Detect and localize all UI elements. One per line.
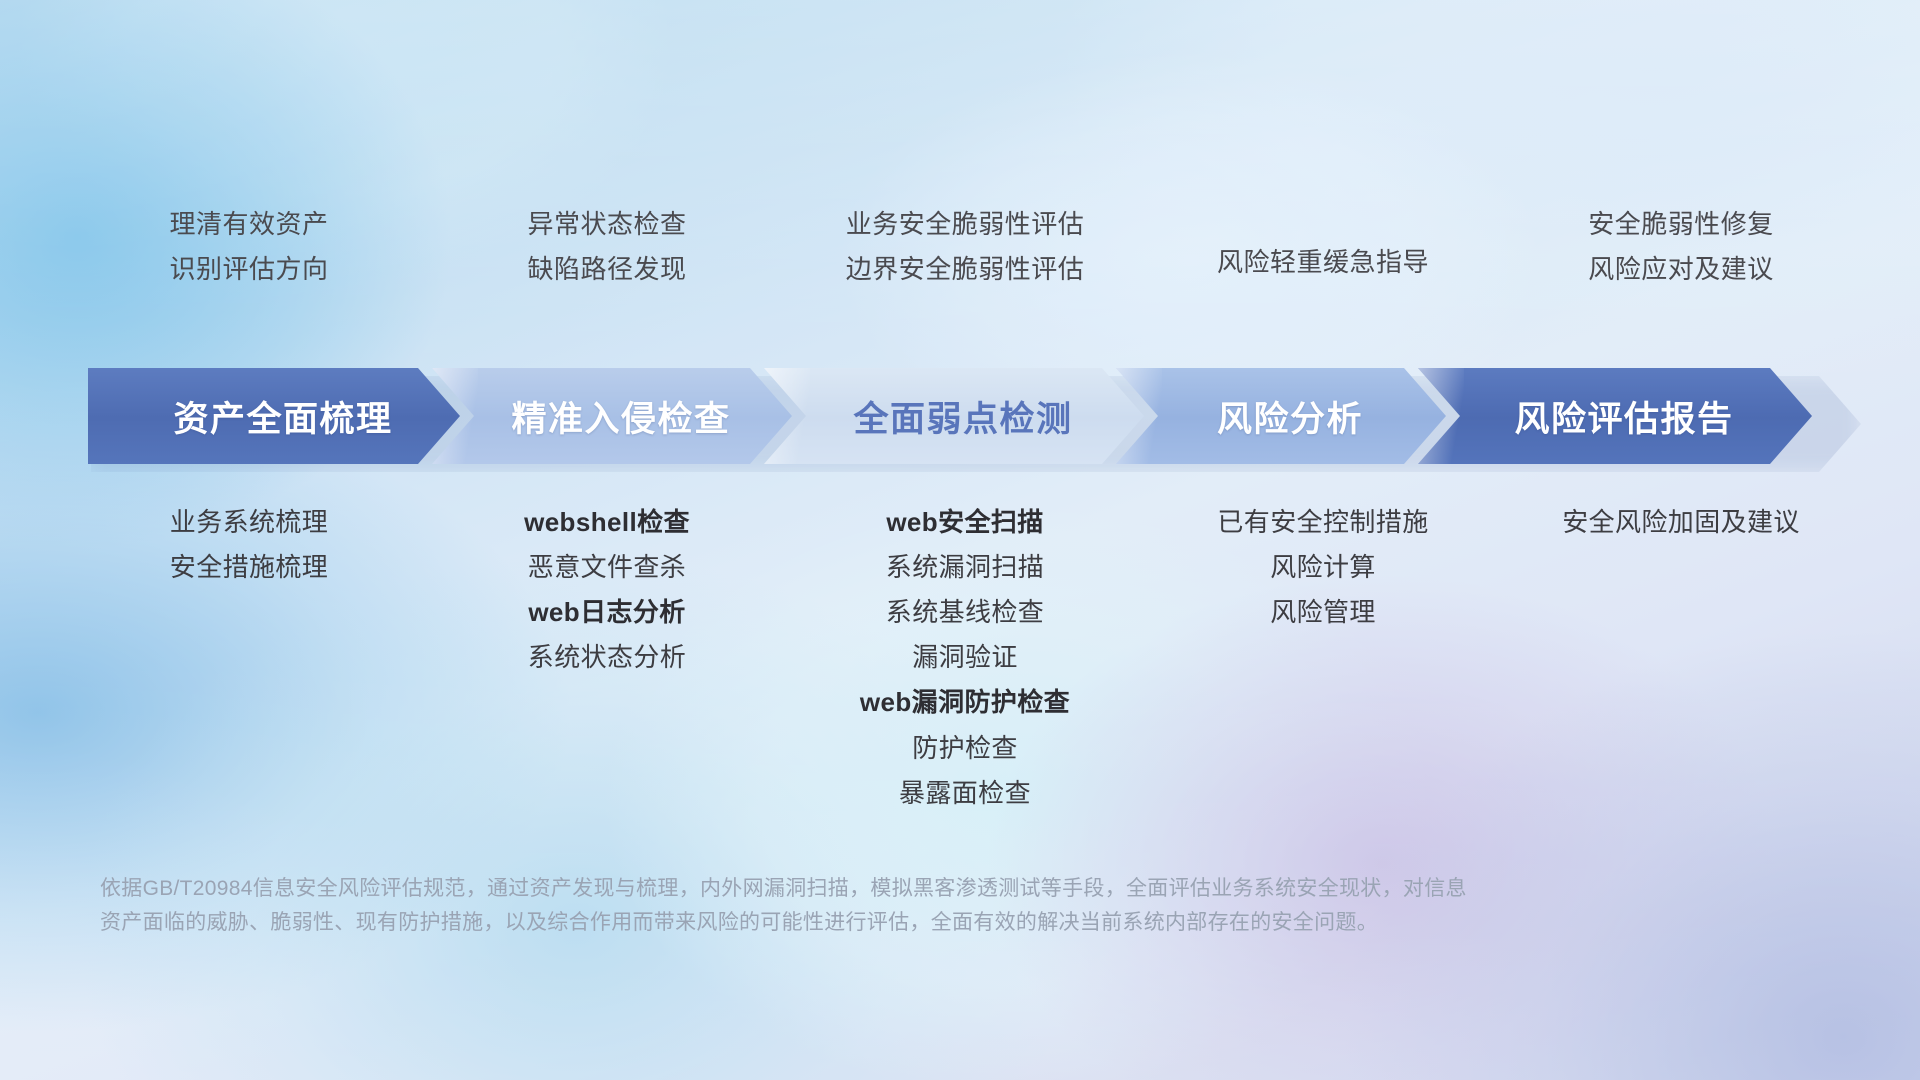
outcome-text: 理清有效资产	[169, 210, 328, 239]
process-chevron-band: 资产全面梳理 精准入侵检查 全面弱点检测 风险分析 风险评估报告	[88, 368, 1858, 464]
stage-activities-weakness-detection: web安全扫描 系统漏洞扫描 系统基线检查 漏洞验证 web漏洞防护检查 防护检…	[786, 508, 1144, 808]
activity-item: 风险计算	[1270, 553, 1376, 582]
outcome-text: 边界安全脆弱性评估	[846, 255, 1085, 284]
activity-item: 安全风险加固及建议	[1562, 508, 1800, 537]
stage-activities-intrusion-check: webshell检查 恶意文件查杀 web日志分析 系统状态分析	[428, 508, 786, 672]
chevron-stage-risk-report[interactable]: 风险评估报告	[1418, 368, 1812, 464]
footer-line-1: 依据GB/T20984信息安全风险评估规范，通过资产发现与梳理，内外网漏洞扫描，…	[100, 872, 1730, 906]
activity-item: 漏洞验证	[912, 643, 1018, 672]
stage-activities-risk-report: 安全风险加固及建议	[1502, 508, 1860, 537]
stage-activities-asset-inventory: 业务系统梳理 安全措施梳理	[70, 508, 428, 582]
chevron-stage-weakness-detection[interactable]: 全面弱点检测	[764, 368, 1144, 464]
activity-item: web日志分析	[528, 598, 685, 627]
activity-item: 防护检查	[912, 734, 1018, 763]
activity-item: 系统基线检查	[886, 598, 1044, 627]
stage-outcomes-row: 理清有效资产 识别评估方向 异常状态检查 缺陷路径发现 业务安全脆弱性评估 边界…	[70, 210, 1860, 283]
chevron-label: 资产全面梳理	[155, 391, 392, 442]
stage-outcomes-weakness-detection: 业务安全脆弱性评估 边界安全脆弱性评估	[786, 210, 1144, 283]
activity-item: 恶意文件查杀	[528, 553, 686, 582]
stage-activities-risk-analysis: 已有安全控制措施 风险计算 风险管理	[1144, 508, 1502, 627]
outcome-text: 异常状态检查	[527, 210, 686, 239]
outcome-text: 风险应对及建议	[1588, 255, 1774, 284]
footer-line-2: 资产面临的威胁、脆弱性、现有防护措施，以及综合作用而带来风险的可能性进行评估，全…	[100, 906, 1730, 940]
outcome-text: 安全脆弱性修复	[1588, 210, 1774, 239]
activity-item: 安全措施梳理	[170, 553, 328, 582]
chevron-label: 风险评估报告	[1496, 391, 1733, 442]
slide-canvas: 理清有效资产 识别评估方向 异常状态检查 缺陷路径发现 业务安全脆弱性评估 边界…	[0, 0, 1920, 1080]
activity-item: 暴露面检查	[899, 779, 1031, 808]
activity-item: web漏洞防护检查	[860, 688, 1070, 717]
activity-item: webshell检查	[524, 508, 690, 537]
chevron-label: 风险分析	[1199, 391, 1363, 442]
stage-outcomes-asset-inventory: 理清有效资产 识别评估方向	[70, 210, 428, 283]
outcome-text: 业务安全脆弱性评估	[846, 210, 1085, 239]
activity-item: 已有安全控制措施	[1217, 508, 1428, 537]
activity-item: 业务系统梳理	[170, 508, 328, 537]
footer-description: 依据GB/T20984信息安全风险评估规范，通过资产发现与梳理，内外网漏洞扫描，…	[100, 872, 1730, 940]
activity-item: 风险管理	[1270, 598, 1376, 627]
chevron-label: 全面弱点检测	[835, 391, 1072, 442]
stage-outcomes-risk-report: 安全脆弱性修复 风险应对及建议	[1502, 210, 1860, 283]
stage-outcomes-risk-analysis: 风险轻重缓急指导	[1144, 210, 1502, 283]
stage-activities-row: 业务系统梳理 安全措施梳理 webshell检查 恶意文件查杀 web日志分析 …	[70, 508, 1860, 808]
chevron-stage-risk-analysis[interactable]: 风险分析	[1116, 368, 1446, 464]
diagram-content: 理清有效资产 识别评估方向 异常状态检查 缺陷路径发现 业务安全脆弱性评估 边界…	[0, 0, 1920, 1080]
chevron-stage-asset-inventory[interactable]: 资产全面梳理	[88, 368, 460, 464]
stage-outcomes-intrusion-check: 异常状态检查 缺陷路径发现	[428, 210, 786, 283]
activity-item: web安全扫描	[886, 508, 1043, 537]
outcome-text: 风险轻重缓急指导	[1217, 248, 1429, 277]
activity-item: 系统状态分析	[528, 643, 686, 672]
chevron-label: 精准入侵检查	[493, 391, 730, 442]
activity-item: 系统漏洞扫描	[886, 553, 1044, 582]
outcome-text: 缺陷路径发现	[527, 255, 686, 284]
chevron-stage-intrusion-check[interactable]: 精准入侵检查	[432, 368, 792, 464]
outcome-text: 识别评估方向	[169, 255, 328, 284]
